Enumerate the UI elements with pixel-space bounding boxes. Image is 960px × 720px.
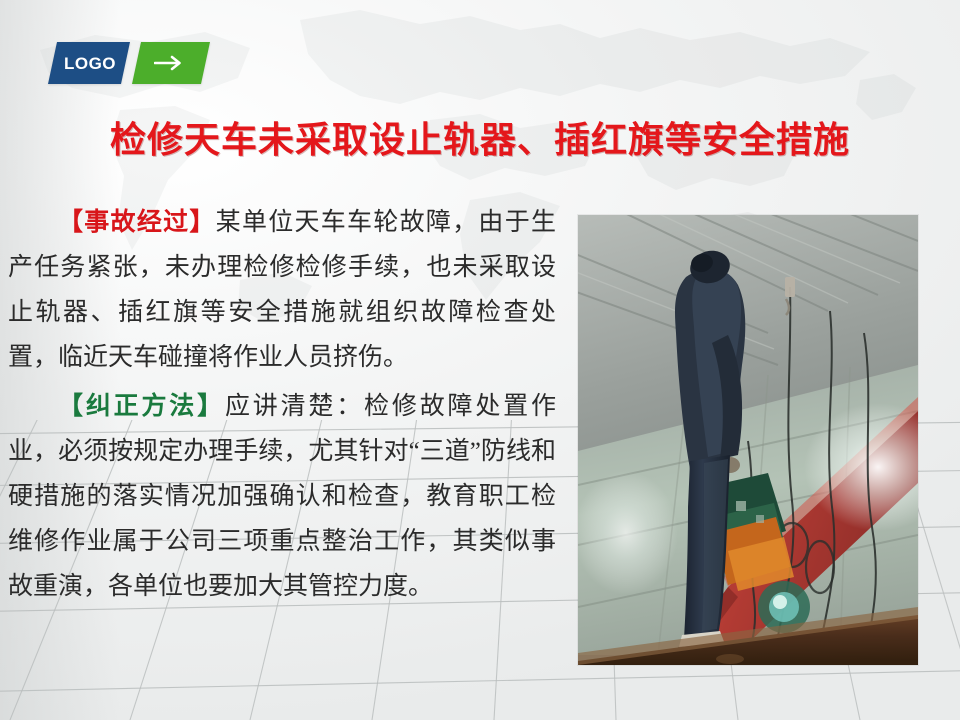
paragraph-correction: 【纠正方法】应讲清楚：检修故障处置作业，必须按规定办理手续，尤其针对“三道”防线… [8,384,556,609]
correction-label: 【纠正方法】 [58,393,225,420]
incident-label: 【事故经过】 [58,209,216,236]
arrow-right-icon [154,55,188,71]
correction-text: 应讲清楚：检修故障处置作业，必须按规定办理手续，尤其针对“三道”防线和硬措施的落… [8,393,556,600]
logo-blue-panel: LOGO [48,42,130,84]
paragraph-incident: 【事故经过】某单位天车车轮故障，由于生产任务紧张，未办理检修检修手续，也未采取设… [8,200,556,380]
logo-green-panel [132,42,210,84]
logo-text: LOGO [62,55,116,72]
page-title: 检修天车未采取设止轨器、插红旗等安全措施 [0,120,960,161]
logo[interactable]: LOGO [48,42,210,84]
body-text-column: 【事故经过】某单位天车车轮故障，由于生产任务紧张，未办理检修检修手续，也未采取设… [8,200,556,613]
incident-photo [578,215,918,665]
slide-canvas: LOGO 检修天车未采取设止轨器、插红旗等安全措施 【事故经过】某单位天车车轮故… [0,0,960,720]
